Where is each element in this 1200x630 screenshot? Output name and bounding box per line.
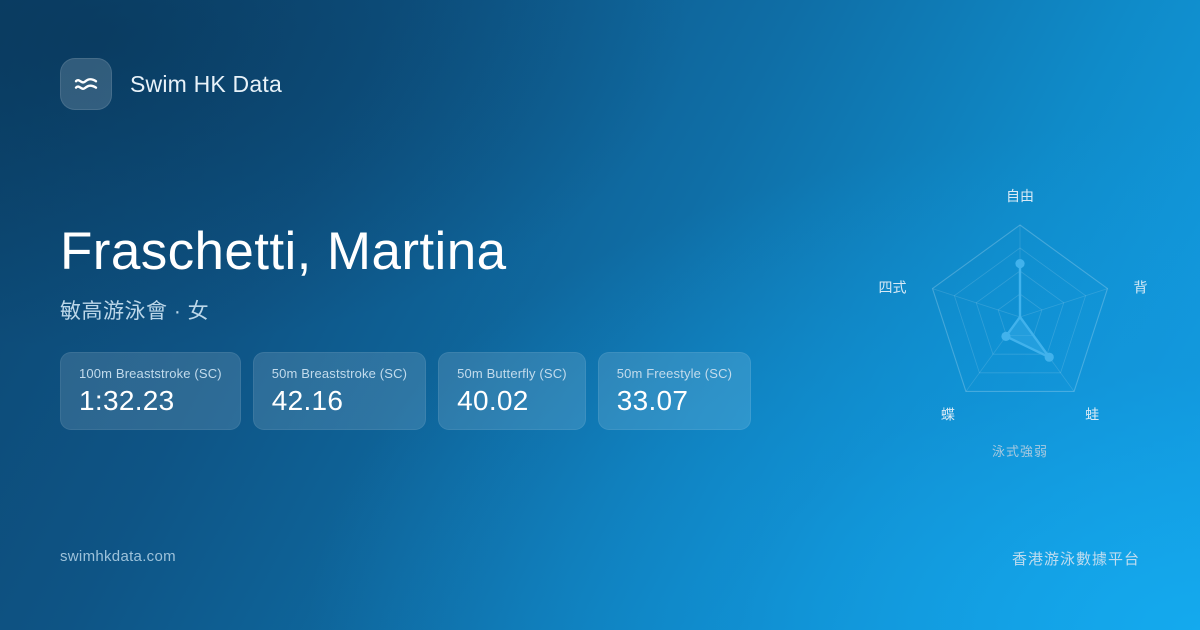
radar-axis-label: 蛙 <box>1085 406 1099 422</box>
radar-data-point <box>1001 332 1010 341</box>
radar-axis-line <box>1020 289 1108 317</box>
radar-axis-line <box>933 289 1021 317</box>
stat-label: 50m Butterfly (SC) <box>457 366 567 381</box>
stat-card-list: 100m Breaststroke (SC) 1:32.23 50m Breas… <box>60 352 751 430</box>
athlete-hero: Fraschetti, Martina 敏高游泳會 · 女 <box>60 222 506 325</box>
page-title: Fraschetti, Martina <box>60 222 506 281</box>
radar-axis-label: 蝶 <box>941 406 955 422</box>
radar-data-polygon <box>1006 264 1049 358</box>
stat-label: 100m Breaststroke (SC) <box>79 366 222 381</box>
stat-label: 50m Breaststroke (SC) <box>272 366 407 381</box>
stat-label: 50m Freestyle (SC) <box>617 366 732 381</box>
radar-axis-label: 自由 <box>1006 188 1034 204</box>
brand-name: Swim HK Data <box>130 71 282 98</box>
stat-value: 33.07 <box>617 385 732 417</box>
radar-axis-label: 四式 <box>879 280 907 296</box>
footer-tagline: 香港游泳數據平台 <box>1012 548 1140 569</box>
radar-data-point <box>1045 353 1054 362</box>
stat-value: 1:32.23 <box>79 385 222 417</box>
brand-header: Swim HK Data <box>60 58 282 110</box>
stat-card: 100m Breaststroke (SC) 1:32.23 <box>60 352 241 430</box>
radar-svg: 自由背蛙蝶四式 <box>870 170 1170 470</box>
radar-axis-label: 背 <box>1134 280 1148 296</box>
stat-value: 42.16 <box>272 385 407 417</box>
app-logo <box>60 58 112 110</box>
stat-value: 40.02 <box>457 385 567 417</box>
stat-card: 50m Breaststroke (SC) 42.16 <box>253 352 426 430</box>
footer-site-url: swimhkdata.com <box>60 548 176 565</box>
athlete-meta: 敏高游泳會 · 女 <box>60 295 506 325</box>
stat-card: 50m Freestyle (SC) 33.07 <box>598 352 751 430</box>
share-card: Swim HK Data Fraschetti, Martina 敏高游泳會 ·… <box>0 0 1200 630</box>
stat-card: 50m Butterfly (SC) 40.02 <box>438 352 586 430</box>
radar-data-point <box>1015 259 1024 268</box>
stroke-radar-chart: 自由背蛙蝶四式 <box>870 170 1170 470</box>
wave-icon <box>72 70 100 98</box>
